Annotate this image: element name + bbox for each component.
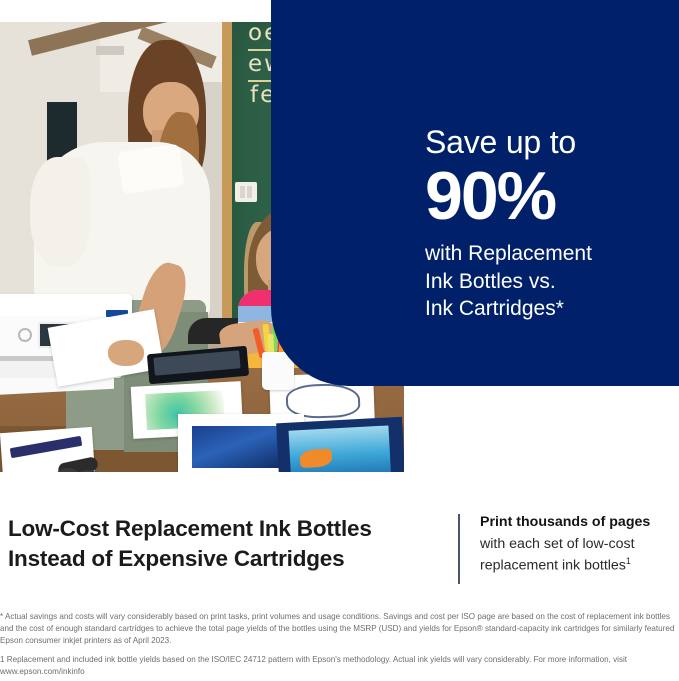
- promo-copy: Save up to 90% with Replacement Ink Bott…: [425, 126, 675, 323]
- ceiling-vent: [96, 46, 124, 55]
- promo-headline-percent: 90%: [425, 162, 675, 230]
- legal-note-asterisk: * Actual savings and costs will vary con…: [0, 611, 679, 647]
- mother-collar: [117, 144, 184, 194]
- mother-hand: [108, 340, 144, 366]
- light-switch: [235, 182, 257, 202]
- print-portfolio: [276, 417, 404, 472]
- printer-power-button: [18, 328, 32, 342]
- promo-eyebrow: Save up to: [425, 126, 675, 160]
- side-callout-line-2: replacement ink bottles: [480, 558, 626, 574]
- promo-subline-2: Ink Bottles vs.: [425, 268, 675, 296]
- side-callout-footnote-marker: 1: [626, 556, 631, 566]
- vertical-divider: [458, 514, 460, 584]
- promo-subline-1: with Replacement: [425, 240, 675, 268]
- promo-panel: Save up to 90% with Replacement Ink Bott…: [271, 0, 679, 386]
- mother-sleeve: [30, 157, 90, 267]
- section-headline-line-1: Low-Cost Replacement Ink Bottles: [8, 516, 372, 541]
- side-callout: Print thousands of pages with each set o…: [480, 512, 675, 577]
- side-callout-line-1: with each set of low-cost: [480, 536, 635, 552]
- chalk-underline-1: [248, 49, 273, 51]
- legal-note-one: 1 Replacement and included ink bottle yi…: [0, 654, 679, 678]
- hero-banner: oe = ö ō ew = ö ū few toe av: [0, 0, 679, 490]
- section-headline-line-2: Instead of Expensive Cartridges: [8, 546, 344, 571]
- section-headline: Low-Cost Replacement Ink Bottles Instead…: [8, 514, 438, 573]
- side-callout-bold: Print thousands of pages: [480, 512, 675, 534]
- promo-subline-3: Ink Cartridges*: [425, 295, 675, 323]
